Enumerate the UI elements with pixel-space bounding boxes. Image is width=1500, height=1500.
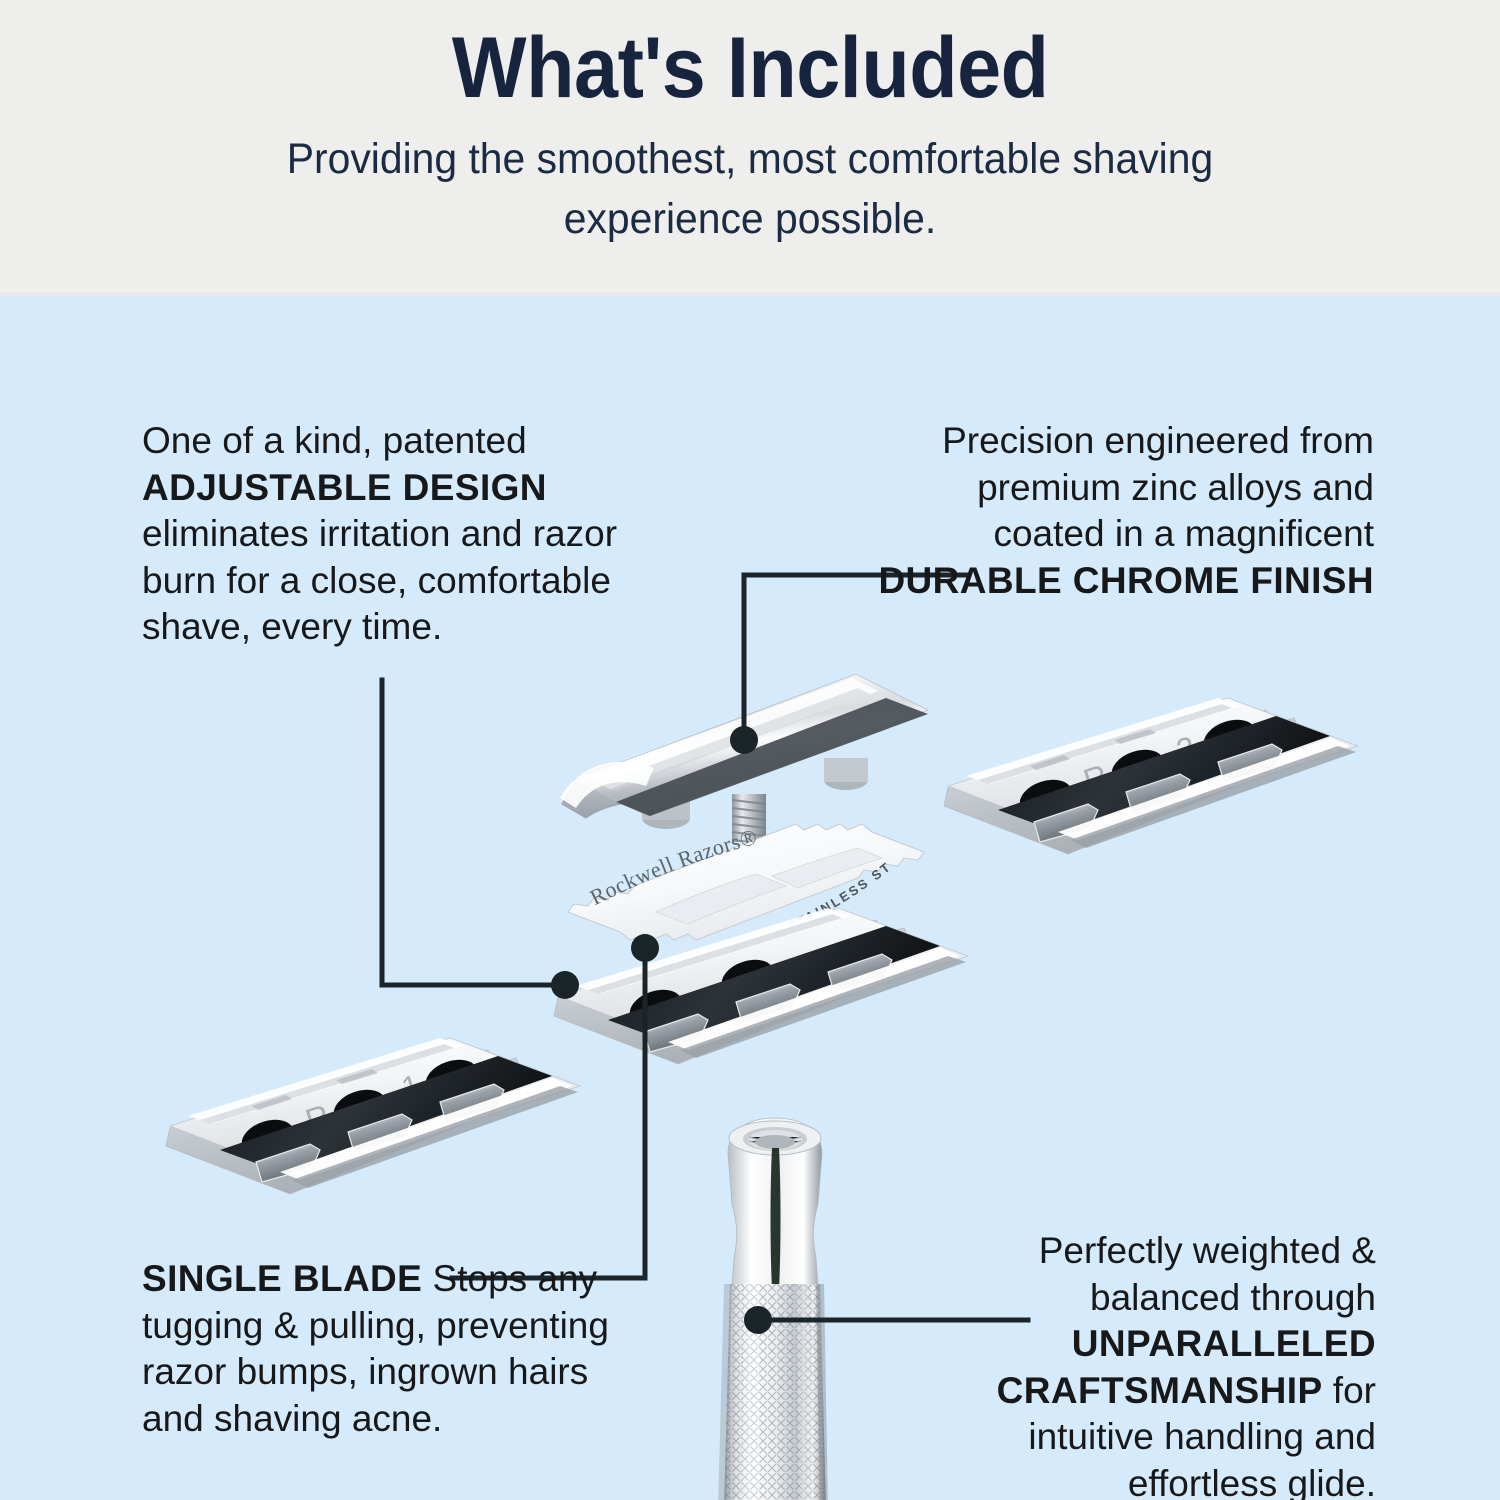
callout-lead-text: Perfectly weighted & balanced through <box>1039 1230 1376 1318</box>
leader-adjustable <box>382 680 560 985</box>
page-subtitle: Providing the smoothest, most comfortabl… <box>275 129 1225 249</box>
infographic-canvas: What's Included Providing the smoothest,… <box>0 0 1500 1500</box>
callout-unparalleled-craftsmanship: Perfectly weighted & balanced through UN… <box>880 1228 1376 1500</box>
callout-bold-text: ADJUSTABLE DESIGN <box>142 467 547 508</box>
razor-handle <box>700 1108 850 1500</box>
callout-adjustable-design: One of a kind, patented ADJUSTABLE DESIG… <box>142 418 632 651</box>
callout-single-blade: SINGLE BLADE Stops any tugging & pulling… <box>142 1256 642 1442</box>
base-plate-middle <box>548 890 978 1120</box>
header-divider <box>0 292 1500 296</box>
callout-lead-text: Precision engineered from premium zinc a… <box>942 420 1374 554</box>
callout-bold-text: DURABLE CHROME FINISH <box>878 560 1374 601</box>
callout-tail-text: eliminates irritation and razor burn for… <box>142 513 617 647</box>
base-plate-r3: R 3 <box>938 680 1368 910</box>
base-plate-r1: R 1 <box>160 1020 590 1250</box>
header-band: What's Included Providing the smoothest,… <box>0 0 1500 296</box>
callout-bold-text: UNPARALLELED CRAFTSMANSHIP <box>997 1323 1376 1411</box>
callout-durable-chrome-finish: Precision engineered from premium zinc a… <box>862 418 1374 604</box>
callout-bold-text: SINGLE BLADE <box>142 1258 422 1299</box>
page-title: What's Included <box>452 22 1049 115</box>
callout-lead-text: One of a kind, patented <box>142 420 527 461</box>
